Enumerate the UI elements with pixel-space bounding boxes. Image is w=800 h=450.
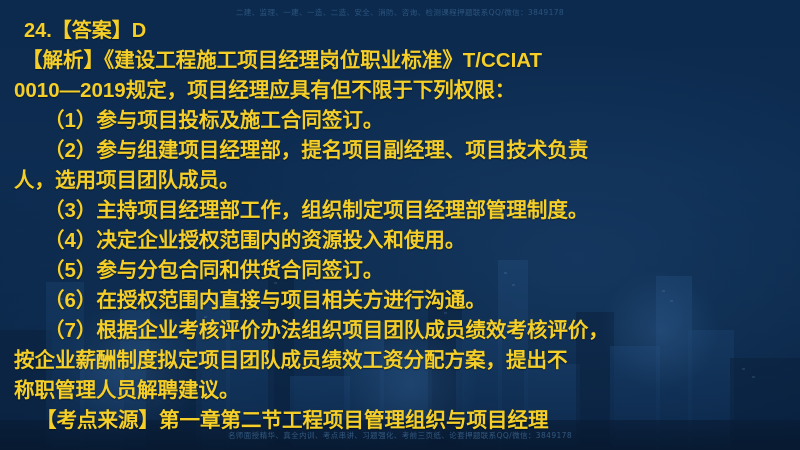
item-2-line-2: 人，选用项目团队成员。: [14, 166, 786, 196]
analysis-line-1: 【解析】《建设工程施工项目经理岗位职业标准》T/CCIAT: [14, 46, 786, 76]
item-7-line-3: 称职管理人员解聘建议。: [14, 376, 786, 406]
item-3-line-1: （3）主持项目经理部工作，组织制定项目经理部管理制度。: [14, 196, 786, 226]
slide-canvas: 二建、监理、一建、一造、二造、安全、消防、咨询、检测课程押题联系QQ/微信：38…: [0, 0, 800, 450]
slide-content: 24.【答案】D 【解析】《建设工程施工项目经理岗位职业标准》T/CCIAT 0…: [0, 0, 800, 436]
analysis-line-2: 0010—2019规定，项目经理应具有但不限于下列权限：: [14, 76, 786, 106]
item-1-line-1: （1）参与项目投标及施工合同签订。: [14, 106, 786, 136]
item-7-line-1: （7）根据企业考核评价办法组织项目团队成员绩效考核评价，: [14, 316, 786, 346]
item-4-line-1: （4）决定企业授权范围内的资源投入和使用。: [14, 226, 786, 256]
item-7-line-2: 按企业薪酬制度拟定项目团队成员绩效工资分配方案，提出不: [14, 346, 786, 376]
answer-line: 24.【答案】D: [14, 16, 786, 46]
item-6-line-1: （6）在授权范围内直接与项目相关方进行沟通。: [14, 286, 786, 316]
bottom-promo-banner: 名师面授精华、真全内训、考点串讲、习题强化、考前三页纸、论套押题联系QQ/微信：…: [0, 430, 800, 441]
item-5-line-1: （5）参与分包合同和供货合同签订。: [14, 256, 786, 286]
item-2-line-1: （2）参与组建项目经理部，提名项目副经理、项目技术负责: [14, 136, 786, 166]
